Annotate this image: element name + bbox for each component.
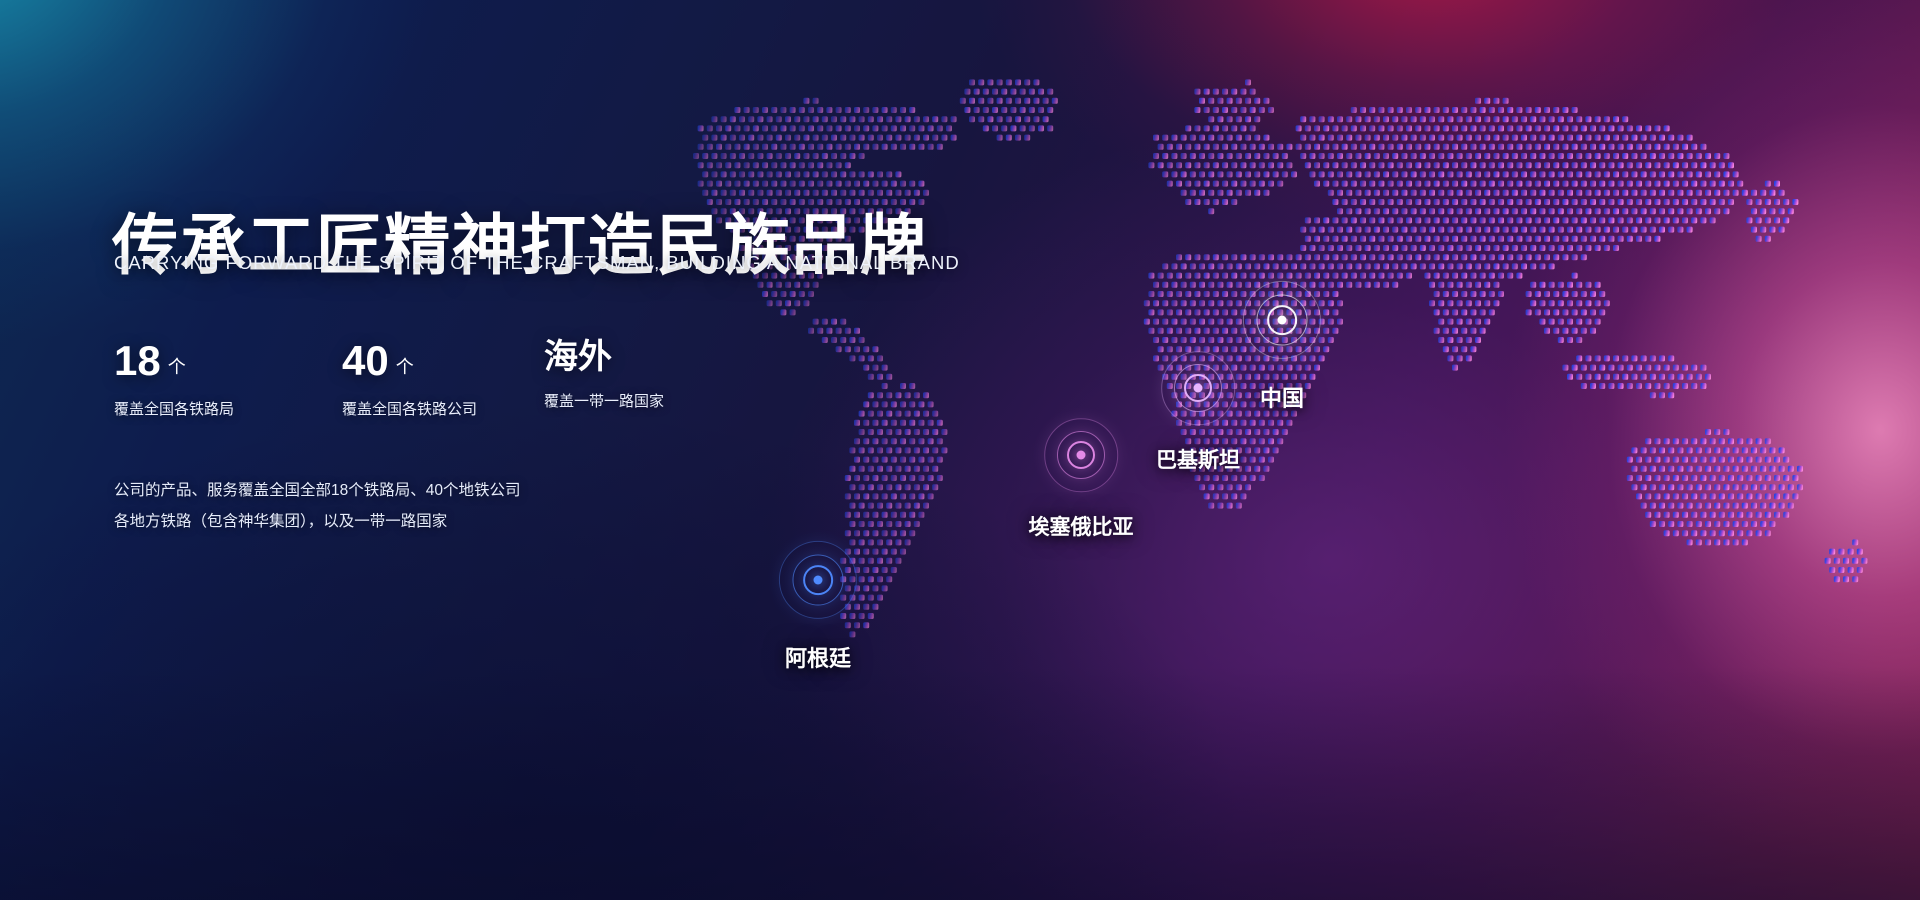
stat-value: 18: [114, 340, 161, 382]
stat-value-row: 40个: [342, 340, 477, 382]
stat-description: 覆盖全国各铁路公司: [342, 398, 477, 419]
stat-unit: 个: [396, 353, 414, 379]
stat-value-row: 18个: [114, 340, 234, 382]
content-block: 传承工匠精神打造民族品牌 CARRYING FORWARD THE SPIRIT…: [112, 0, 952, 900]
stat-value-row: 海外: [544, 340, 664, 374]
description-line-1: 公司的产品、服务覆盖全国全部18个铁路局、40个地铁公司: [114, 475, 520, 506]
stat-value: 40: [342, 340, 389, 382]
stat-description: 覆盖全国各铁路局: [114, 398, 234, 419]
description-paragraph: 公司的产品、服务覆盖全国全部18个铁路局、40个地铁公司 各地方铁路（包含神华集…: [114, 475, 520, 537]
description-line-2: 各地方铁路（包含神华集团），以及一带一路国家: [114, 506, 520, 537]
page-subtitle: CARRYING FORWARD THE SPIRIT OF THE CRAFT…: [114, 252, 960, 274]
stat-value: 海外: [544, 338, 612, 376]
stat-item-3: 海外覆盖一带一路国家: [544, 340, 664, 411]
stat-item-2: 40个覆盖全国各铁路公司: [342, 340, 477, 419]
stat-description: 覆盖一带一路国家: [544, 390, 664, 411]
banner-stage: 中国巴基斯坦埃塞俄比亚阿根廷 传承工匠精神打造民族品牌 CARRYING FOR…: [0, 0, 1920, 900]
stats-row: 18个覆盖全国各铁路局40个覆盖全国各铁路公司海外覆盖一带一路国家: [114, 340, 814, 430]
stat-unit: 个: [168, 353, 186, 379]
stat-item-1: 18个覆盖全国各铁路局: [114, 340, 234, 419]
